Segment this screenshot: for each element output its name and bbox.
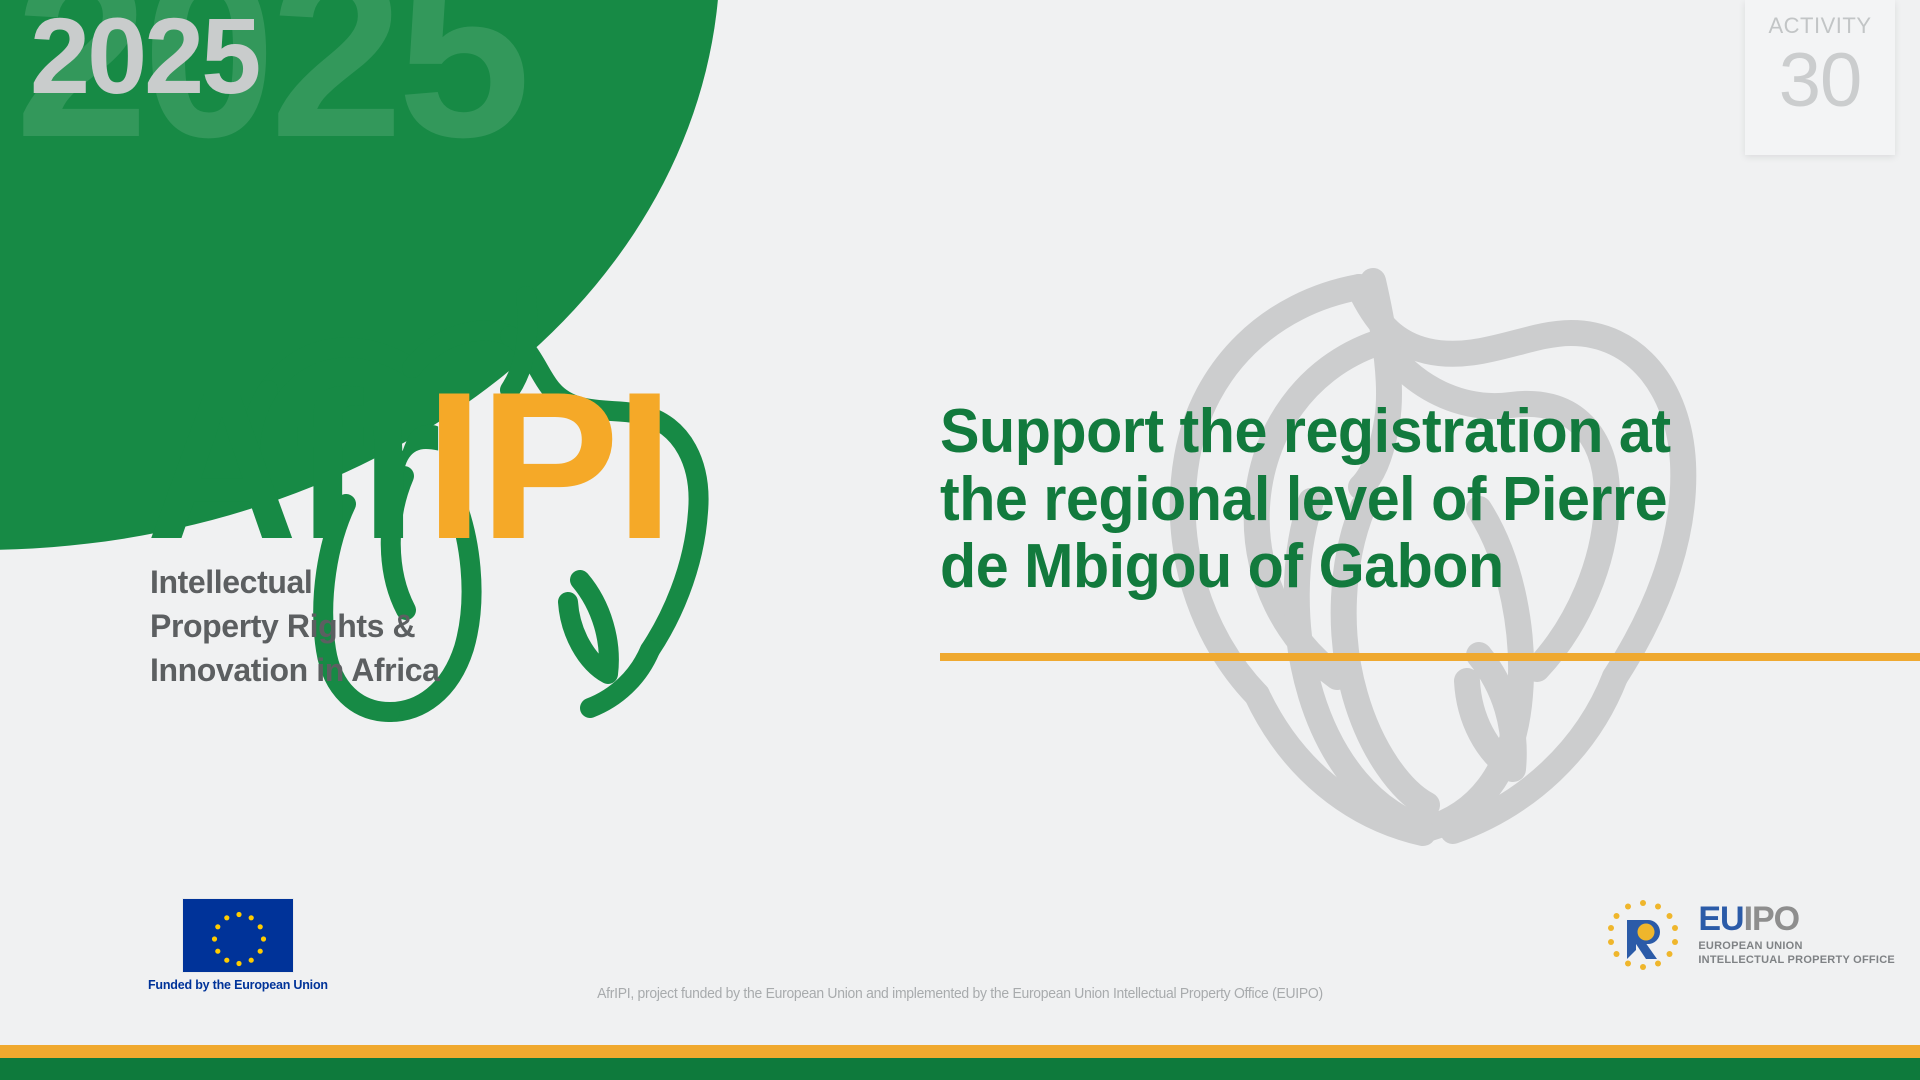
afripi-wordmark-ipi: IPI — [425, 348, 670, 583]
afripi-logo: Afr IPI Intellectual Property Rights & I… — [150, 250, 810, 740]
activity-badge-caption: ACTIVITY — [1768, 13, 1871, 39]
euipo-wordmark: EUIPO — [1698, 902, 1895, 936]
afripi-tagline-line-1: Intellectual — [150, 560, 510, 604]
afripi-wordmark-afr: Afr — [150, 348, 439, 583]
page-title-line-3: de Mbigou of Gabon — [940, 533, 1876, 601]
year-label: 2025 — [30, 2, 258, 110]
euipo-wordmark-eu: EU — [1698, 900, 1743, 938]
activity-badge: ACTIVITY 30 — [1745, 0, 1895, 155]
euipo-wordmark-ipo: IPO — [1744, 900, 1800, 938]
afripi-tagline-line-3: Innovation in Africa — [150, 648, 510, 692]
eu-funded-logo: Funded by the European Union — [148, 898, 328, 992]
footer-note: AfrIPI, project funded by the European U… — [67, 985, 1853, 1002]
euipo-subtitle-line-2: INTELLECTUAL PROPERTY OFFICE — [1698, 954, 1895, 968]
page-title-line-1: Support the registration at — [940, 398, 1876, 466]
afripi-tagline-line-2: Property Rights & — [150, 604, 510, 648]
bottom-orange-bar — [0, 1045, 1920, 1058]
page-title-line-2: the regional level of Pierre — [940, 466, 1876, 534]
eu-flag-icon — [182, 898, 294, 973]
svg-text:Afr: Afr — [150, 348, 439, 583]
bottom-green-bar — [0, 1058, 1920, 1080]
euipo-subtitle-line-1: EUROPEAN UNION — [1698, 940, 1895, 954]
svg-text:IPI: IPI — [425, 348, 670, 583]
page-title: Support the registration at the regional… — [940, 398, 1920, 601]
activity-badge-number: 30 — [1779, 45, 1862, 117]
euipo-logo: EUIPO EUROPEAN UNION INTELLECTUAL PROPER… — [1600, 896, 1895, 974]
euipo-mark-icon — [1600, 896, 1686, 974]
title-underline-rule — [940, 653, 1920, 661]
